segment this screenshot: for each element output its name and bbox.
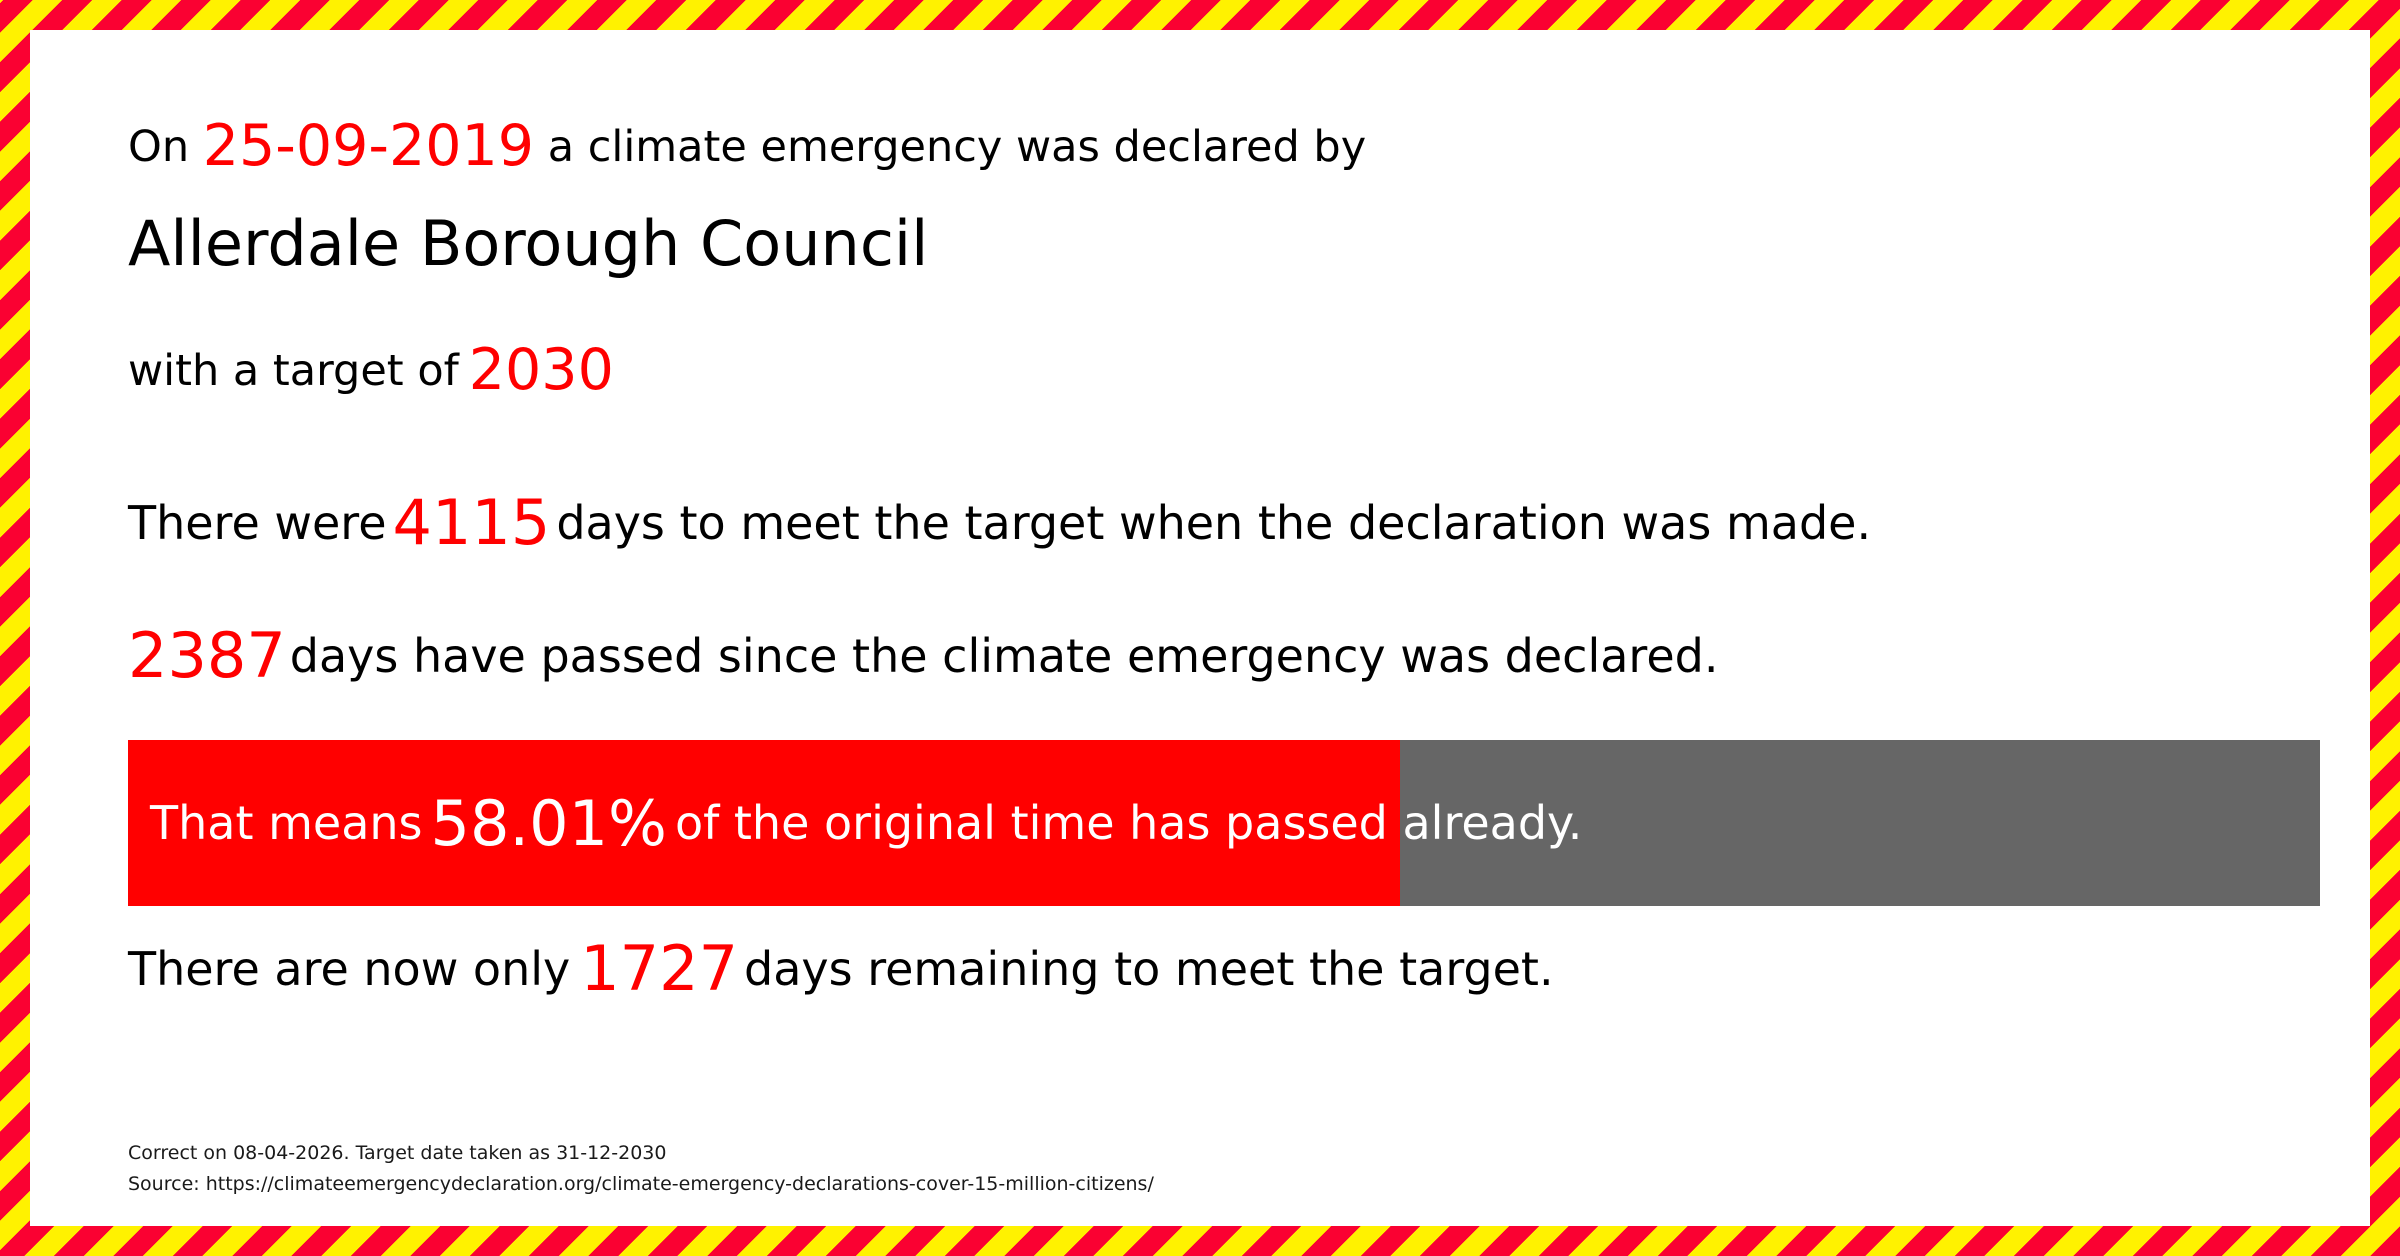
time-progress-label: That means58.01%of the original time has…	[150, 740, 1582, 906]
progress-label-suffix: of the original time has passed already.	[675, 796, 1582, 850]
target-sentence: with a target of2030	[128, 342, 614, 399]
original-days-value: 4115	[387, 486, 557, 559]
elapsed-days-sentence: 2387days have passed since the climate e…	[128, 625, 1718, 687]
original-days-suffix: days to meet the target when the declara…	[556, 496, 1871, 550]
progress-percent-value: 58.01%	[423, 787, 675, 860]
original-days-prefix: There were	[128, 496, 387, 550]
elapsed-days-value: 2387	[128, 619, 290, 692]
remaining-days-prefix: There are now only	[128, 942, 570, 996]
remaining-days-suffix: days remaining to meet the target.	[744, 942, 1554, 996]
declaring-authority: Allerdale Borough Council	[128, 213, 928, 275]
declaration-sentence: On 25-09-2019 a climate emergency was de…	[128, 118, 1366, 175]
declaration-suffix: a climate emergency was declared by	[534, 122, 1366, 172]
footnote-correct-on: Correct on 08-04-2026. Target date taken…	[128, 1138, 1154, 1169]
elapsed-days-suffix: days have passed since the climate emerg…	[290, 629, 1719, 683]
progress-label-prefix: That means	[150, 796, 423, 850]
original-days-sentence: There were4115days to meet the target wh…	[128, 492, 1871, 554]
time-progress-bar: That means58.01%of the original time has…	[128, 740, 2320, 906]
poster-frame: On 25-09-2019 a climate emergency was de…	[0, 0, 2400, 1256]
declaration-prefix: On	[128, 122, 203, 172]
poster-card: On 25-09-2019 a climate emergency was de…	[30, 30, 2370, 1226]
footnote-source: Source: https://climateemergencydeclarat…	[128, 1169, 1154, 1200]
target-year: 2030	[459, 337, 614, 403]
target-prefix: with a target of	[128, 346, 459, 396]
footnote: Correct on 08-04-2026. Target date taken…	[128, 1138, 1154, 1201]
remaining-days-sentence: There are now only1727days remaining to …	[128, 938, 1554, 1000]
declaration-date: 25-09-2019	[203, 113, 534, 179]
remaining-days-value: 1727	[570, 932, 744, 1005]
